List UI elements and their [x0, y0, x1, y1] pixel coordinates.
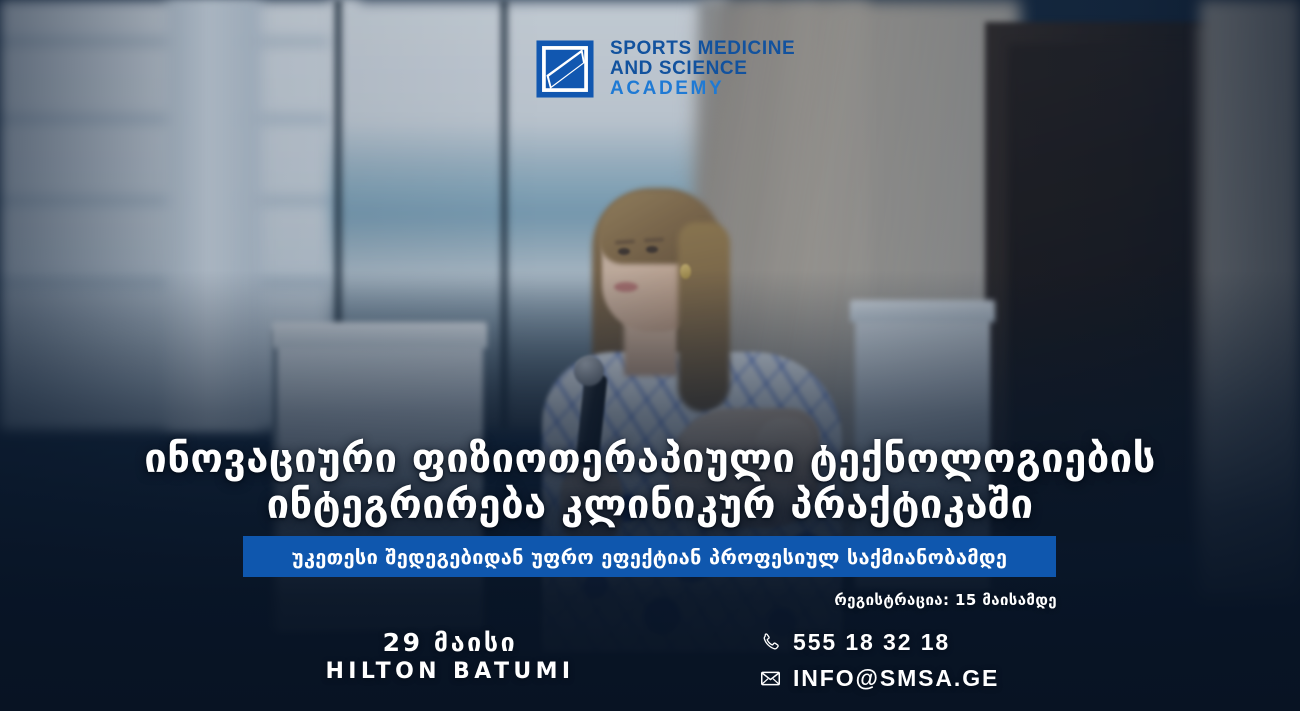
event-poster: SPORTS MEDICINE AND SCIENCE ACADEMY ინოვ… — [0, 0, 1300, 711]
logo-wordmark: SPORTS MEDICINE AND SCIENCE ACADEMY — [610, 39, 795, 99]
event-date: 29 მაისი — [310, 628, 590, 658]
contact-email-row[interactable]: INFO@SMSA.GE — [760, 664, 999, 694]
phone-icon — [760, 632, 781, 653]
headline: ინოვაციური ფიზიოთერაპიული ტექნოლოგიების … — [0, 436, 1300, 529]
event-venue: HILTON BATUMI — [310, 658, 590, 687]
registration-deadline: რეგისტრაცია: 15 მაისამდე — [834, 591, 1057, 609]
background-photo — [0, 0, 1300, 711]
logo-line-1: SPORTS MEDICINE — [610, 39, 795, 59]
subtitle-banner: უკეთესი შედეგებიდან უფრო ეფექტიან პროფეს… — [243, 536, 1056, 577]
contact-block: 555 18 32 18 INFO@SMSA.GE — [760, 628, 999, 694]
event-details: 29 მაისი HILTON BATUMI — [310, 628, 590, 686]
headline-line-1: ინოვაციური ფიზიოთერაპიული ტექნოლოგიების — [0, 436, 1300, 482]
vignette-bottom — [0, 0, 1300, 711]
logo-line-2: AND SCIENCE — [610, 59, 795, 79]
headline-line-2: ინტეგრირება კლინიკურ პრაქტიკაში — [0, 482, 1300, 528]
envelope-icon — [760, 668, 781, 689]
logo-line-3: ACADEMY — [610, 79, 795, 99]
brand-logo: SPORTS MEDICINE AND SCIENCE ACADEMY — [534, 38, 795, 100]
subtitle-text: უკეთესი შედეგებიდან უფრო ეფექტიან პროფეს… — [292, 545, 1008, 569]
smsa-monogram-icon — [534, 38, 596, 100]
phone-number: 555 18 32 18 — [793, 628, 950, 658]
email-address: INFO@SMSA.GE — [793, 664, 999, 694]
contact-phone-row[interactable]: 555 18 32 18 — [760, 628, 999, 658]
